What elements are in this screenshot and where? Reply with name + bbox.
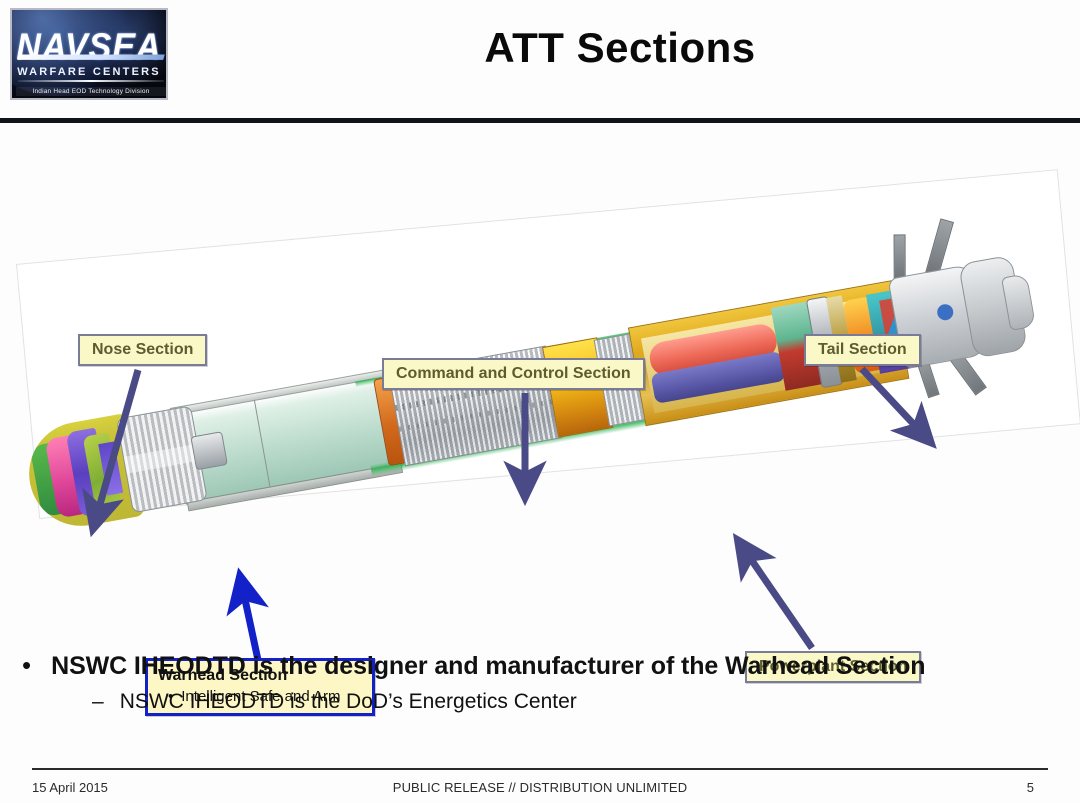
callout-tail-section[interactable]: Tail Section: [804, 334, 921, 366]
bullet-level2-marker-icon: –: [92, 690, 104, 714]
arrow-warhead: [243, 590, 258, 660]
logo-subtitle: WARFARE CENTERS: [12, 66, 166, 78]
logo-division-text: Indian Head EOD Technology Division: [16, 87, 166, 96]
slide: NAVSEA WARFARE CENTERS Indian Head EOD T…: [0, 0, 1080, 803]
page-title: ATT Sections: [180, 24, 1060, 72]
tail-fin-top-forward: [894, 234, 906, 278]
footer-page-number: 5: [748, 780, 1048, 795]
tail-port-marker: [936, 303, 955, 322]
bullet-level2: – NSWC IHEODTD is the DoD’s Energetics C…: [0, 690, 1080, 714]
logo-wordmark: NAVSEA: [12, 26, 166, 68]
bullet-level1-text: NSWC IHEODTD is the designer and manufac…: [51, 652, 925, 681]
slide-footer: 15 April 2015 PUBLIC RELEASE // DISTRIBU…: [32, 774, 1048, 800]
logo-wordmark-text: NAVSEA: [16, 26, 161, 67]
arrow-powerplant: [746, 552, 812, 648]
logo-divider: [18, 80, 164, 82]
footer-classification: PUBLIC RELEASE // DISTRIBUTION UNLIMITED: [332, 780, 748, 795]
warhead-split-line: [254, 400, 271, 489]
callout-command-and-control-section[interactable]: Command and Control Section: [382, 358, 645, 390]
bullet-level1: • NSWC IHEODTD is the designer and manuf…: [0, 652, 1080, 681]
callout-nose-section[interactable]: Nose Section: [78, 334, 207, 366]
navsea-logo: NAVSEA WARFARE CENTERS Indian Head EOD T…: [10, 8, 168, 100]
bullet-level1-marker-icon: •: [22, 652, 31, 681]
slide-header: NAVSEA WARFARE CENTERS Indian Head EOD T…: [0, 0, 1080, 122]
footer-date: 15 April 2015: [32, 780, 332, 795]
logo-swoosh-icon: [17, 55, 165, 60]
header-divider: [0, 118, 1080, 123]
slide-body-bullets: • NSWC IHEODTD is the designer and manuf…: [0, 652, 1080, 714]
collar-band: [124, 443, 200, 473]
footer-divider: [32, 768, 1048, 770]
att-diagram: Nose Section Command and Control Section…: [0, 128, 1080, 638]
nose-plug-graphic: [190, 431, 228, 470]
bullet-level2-text: NSWC IHEODTD is the DoD’s Energetics Cen…: [120, 690, 577, 714]
